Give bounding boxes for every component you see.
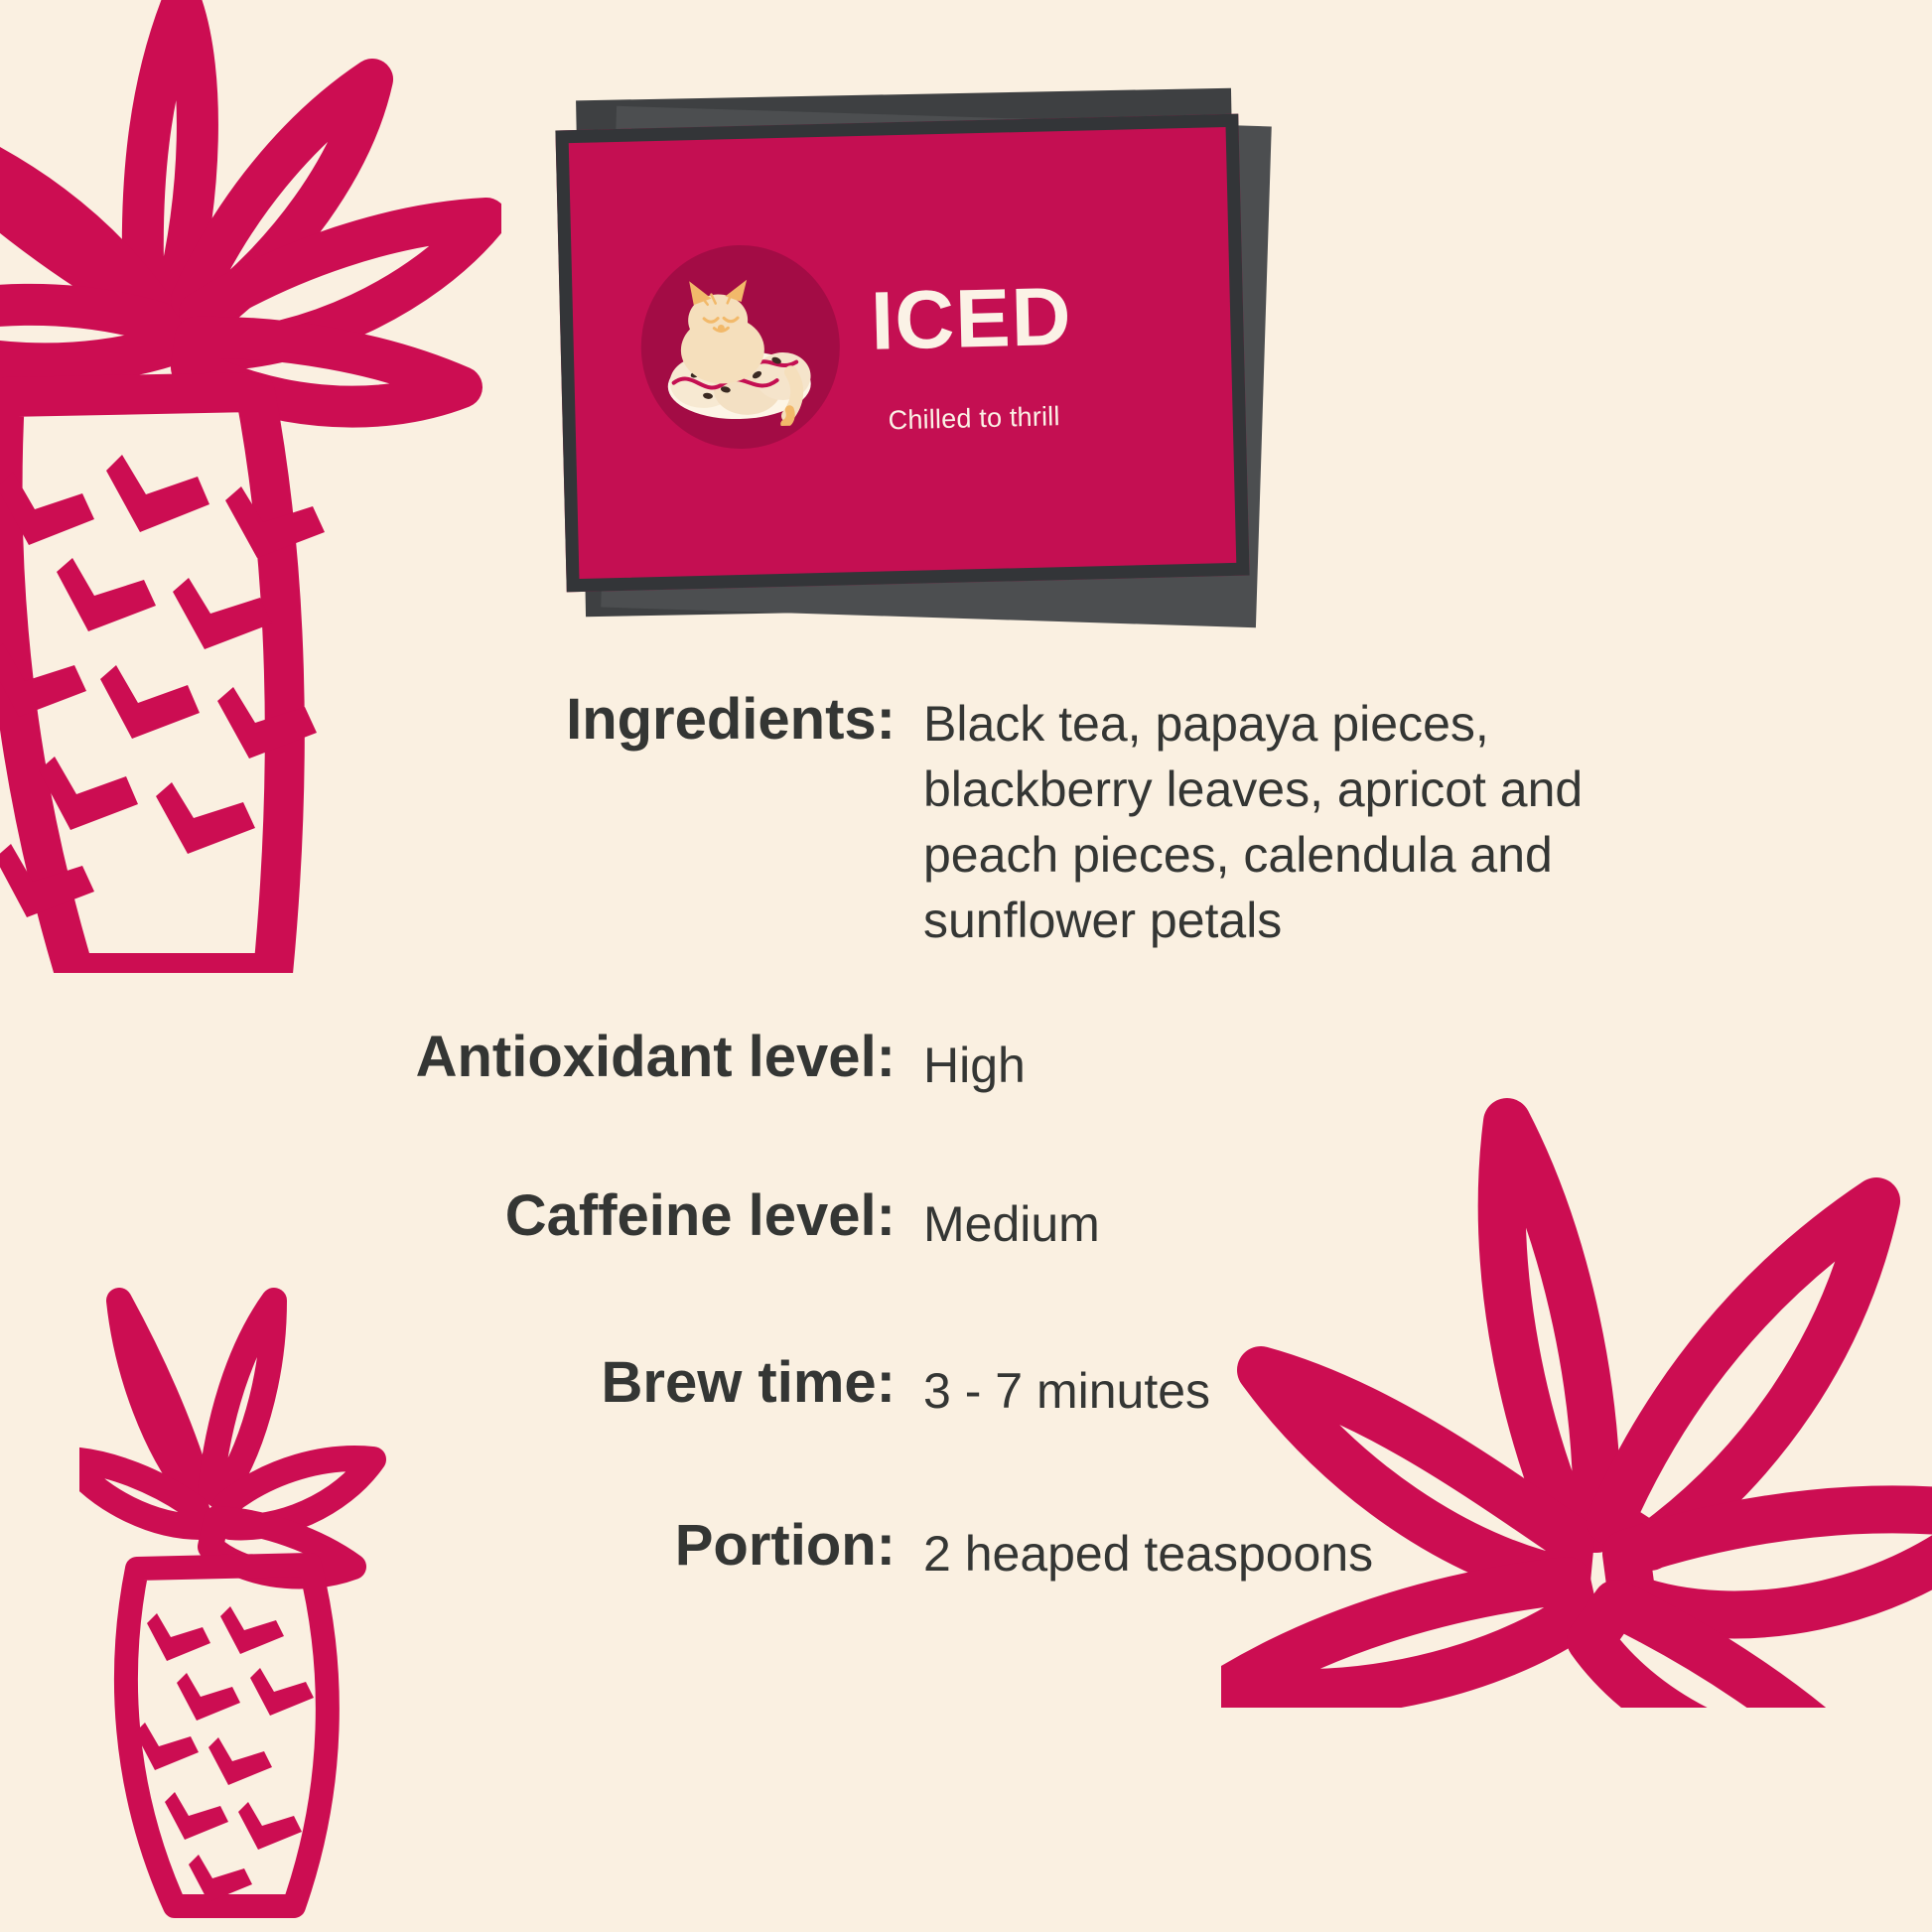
info-value-ingredients: Black tea, papaya pieces, blackberry lea… — [923, 685, 1817, 953]
brand-tagline: Chilled to thrill — [888, 401, 1060, 436]
info-label-ingredients: Ingredients: — [0, 685, 923, 750]
info-value-antioxidant: High — [923, 1027, 1817, 1098]
product-card-front[interactable]: ICED Chilled to thrill — [555, 114, 1249, 593]
product-card-stack: ICED Chilled to thrill — [561, 94, 1276, 635]
info-value-brew-time: 3 - 7 minutes — [923, 1352, 1817, 1424]
brand-name: ICED — [870, 275, 1072, 362]
info-row-portion: Portion: 2 heaped teaspoons — [0, 1515, 1932, 1587]
pineapple-crown-leaves — [0, 5, 486, 407]
info-label-caffeine: Caffeine level: — [0, 1185, 923, 1246]
info-row-ingredients: Ingredients: Black tea, papaya pieces, b… — [0, 685, 1932, 953]
pineapple-texture-marks — [135, 1606, 314, 1902]
pineapple-body-outline — [126, 1565, 328, 1906]
cat-on-pastry-illustration — [649, 276, 832, 429]
cat-on-pastry-icon — [638, 243, 842, 452]
info-value-portion: 2 heaped teaspoons — [923, 1515, 1817, 1587]
info-label-antioxidant: Antioxidant level: — [0, 1027, 923, 1087]
info-value-caffeine: Medium — [923, 1185, 1817, 1257]
info-label-brew-time: Brew time: — [0, 1352, 923, 1413]
tea-info-table: Ingredients: Black tea, papaya pieces, b… — [0, 685, 1932, 1587]
info-row-brew-time: Brew time: 3 - 7 minutes — [0, 1352, 1932, 1424]
info-row-antioxidant: Antioxidant level: High — [0, 1027, 1932, 1098]
info-row-caffeine: Caffeine level: Medium — [0, 1185, 1932, 1257]
card-content: ICED Chilled to thrill — [569, 127, 1237, 579]
info-label-portion: Portion: — [0, 1515, 923, 1576]
